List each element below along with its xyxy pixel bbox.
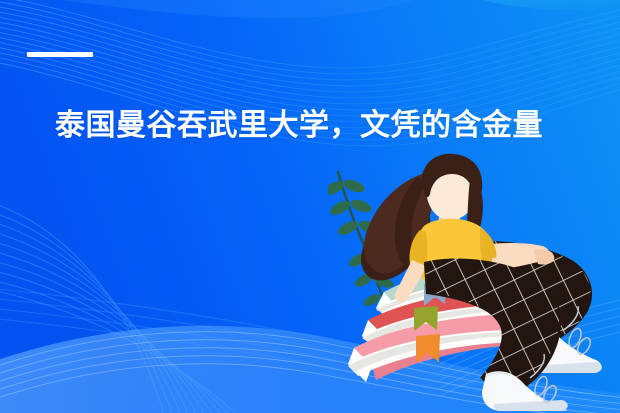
hero-illustration [328,150,620,413]
promo-banner: 泰国曼谷吞武里大学，文凭的含金量 [0,0,620,413]
woman-on-books-illustration [328,150,620,413]
accent-rule [27,52,93,57]
page-title: 泰国曼谷吞武里大学，文凭的含金量 [55,106,585,146]
